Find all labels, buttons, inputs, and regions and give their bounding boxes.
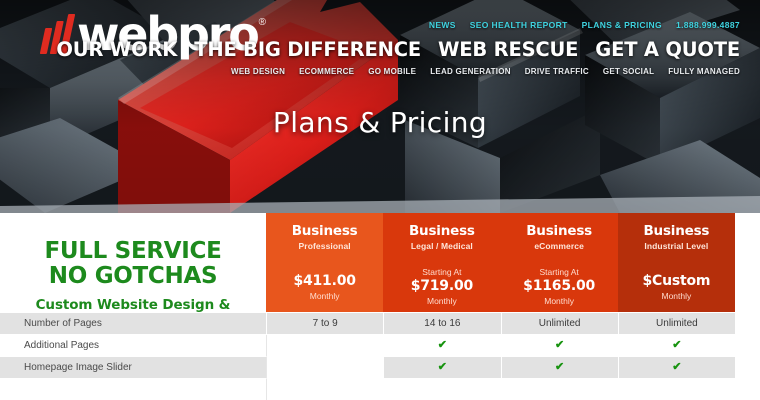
subnav-item-go-mobile[interactable]: GO MOBILE (368, 67, 416, 76)
pricing-section: FULL SERVICE NO GOTCHAS Custom Website D… (0, 213, 760, 400)
subnav-item-web-design[interactable]: WEB DESIGN (231, 67, 285, 76)
feature-cell: ✔ (383, 335, 500, 357)
plan-title: Business (526, 223, 592, 239)
registered-trademark-icon: ® (259, 18, 266, 28)
feature-cell: 14 to 16 (383, 313, 500, 335)
utility-nav-item-seo-health[interactable]: SEO HEALTH REPORT (470, 20, 568, 30)
plan-price-business-industrial-level[interactable]: $Custom Monthly (618, 260, 735, 312)
table-row: Additional Pages ✔ ✔ ✔ (0, 335, 760, 357)
plans-price-row: $411.00 Monthly Starting At $719.00 Mont… (266, 260, 735, 312)
feature-cell: 7 to 9 (266, 313, 383, 335)
plan-subtitle: Legal / Medical (411, 241, 473, 251)
phone-number[interactable]: 1.888.999.4887 (676, 20, 740, 30)
feature-cell-empty (266, 379, 383, 400)
feature-values: 7 to 9 14 to 16 Unlimited Unlimited (266, 313, 760, 335)
table-gutter (735, 335, 760, 357)
feature-cell-empty (266, 357, 383, 379)
plan-title: Business (643, 223, 709, 239)
feature-name: Additional Pages (0, 335, 266, 357)
utility-nav-item-news[interactable]: NEWS (429, 20, 456, 30)
subnav-item-get-social[interactable]: GET SOCIAL (603, 67, 654, 76)
plan-starting-at: Starting At (540, 267, 579, 277)
plan-period: Monthly (427, 296, 457, 306)
plan-period: Monthly (544, 296, 574, 306)
nav-item-get-a-quote[interactable]: GET A QUOTE (595, 38, 740, 61)
feature-cell (383, 379, 500, 400)
hero-banner: webpro ® NEWS SEO HEALTH REPORT PLANS & … (0, 0, 760, 213)
table-row: Homepage Image Slider ✔ ✔ ✔ (0, 357, 760, 379)
feature-cell (501, 379, 618, 400)
feature-cell: ✔ (383, 357, 500, 379)
nav-item-our-work[interactable]: OUR WORK (56, 38, 177, 61)
table-gutter (735, 357, 760, 379)
plans-header-row: Business Professional Business Legal / M… (266, 213, 735, 260)
feature-values: ✔ ✔ ✔ (266, 357, 760, 379)
features-table: Number of Pages 7 to 9 14 to 16 Unlimite… (0, 312, 760, 400)
primary-nav: OUR WORK THE BIG DIFFERENCE WEB RESCUE G… (56, 38, 740, 61)
plan-header-business-industrial-level[interactable]: Business Industrial Level (618, 213, 735, 260)
nav-item-the-big-difference[interactable]: THE BIG DIFFERENCE (194, 38, 421, 61)
plan-subtitle: Industrial Level (644, 241, 708, 251)
promo-line-1: FULL SERVICE (8, 239, 258, 264)
plan-period: Monthly (661, 291, 691, 301)
check-icon: ✔ (555, 340, 564, 351)
page-title: Plans & Pricing (0, 106, 760, 139)
plans-panel: Business Professional Business Legal / M… (266, 213, 735, 312)
subnav-item-ecommerce[interactable]: ECOMMERCE (299, 67, 354, 76)
plan-period: Monthly (310, 291, 340, 301)
feature-cell: ✔ (501, 335, 618, 357)
table-gutter (735, 379, 760, 400)
plan-header-business-professional[interactable]: Business Professional (266, 213, 383, 260)
feature-cell: ✔ (618, 357, 735, 379)
plan-title: Business (292, 223, 358, 239)
table-row: Number of Pages 7 to 9 14 to 16 Unlimite… (0, 313, 760, 335)
utility-nav: NEWS SEO HEALTH REPORT PLANS & PRICING 1… (429, 20, 740, 30)
subnav-item-drive-traffic[interactable]: DRIVE TRAFFIC (525, 67, 589, 76)
plan-price-business-legal-medical[interactable]: Starting At $719.00 Monthly (383, 260, 500, 312)
plan-amount: $1165.00 (523, 278, 595, 294)
feature-cell: ✔ (501, 357, 618, 379)
check-icon: ✔ (672, 362, 681, 373)
feature-name: Number of Pages (0, 313, 266, 335)
utility-nav-item-plans[interactable]: PLANS & PRICING (582, 20, 662, 30)
feature-cell: Unlimited (618, 313, 735, 335)
plan-header-business-legal-medical[interactable]: Business Legal / Medical (383, 213, 500, 260)
feature-cell-empty (266, 335, 383, 357)
promo-line-2: NO GOTCHAS (8, 264, 258, 289)
feature-values (266, 379, 760, 400)
plan-amount: $719.00 (411, 278, 473, 294)
plan-price-business-ecommerce[interactable]: Starting At $1165.00 Monthly (501, 260, 618, 312)
feature-cell (618, 379, 735, 400)
feature-name: Homepage Image Slider (0, 357, 266, 379)
feature-name (0, 379, 266, 400)
check-icon: ✔ (672, 340, 681, 351)
feature-cell: ✔ (618, 335, 735, 357)
plan-price-business-professional[interactable]: $411.00 Monthly (266, 260, 383, 312)
subnav-item-lead-generation[interactable]: LEAD GENERATION (430, 67, 511, 76)
plan-subtitle: Professional (299, 241, 351, 251)
check-icon: ✔ (438, 362, 447, 373)
table-gutter (735, 313, 760, 335)
check-icon: ✔ (555, 362, 564, 373)
nav-item-web-rescue[interactable]: WEB RESCUE (438, 38, 578, 61)
plan-title: Business (409, 223, 475, 239)
feature-cell: Unlimited (501, 313, 618, 335)
plan-amount: $Custom (642, 273, 710, 289)
subnav-item-fully-managed[interactable]: FULLY MANAGED (668, 67, 740, 76)
table-row-partial (0, 379, 760, 400)
plan-amount: $411.00 (293, 273, 355, 289)
plan-header-business-ecommerce[interactable]: Business eCommerce (501, 213, 618, 260)
check-icon: ✔ (438, 340, 447, 351)
feature-values: ✔ ✔ ✔ (266, 335, 760, 357)
plan-starting-at: Starting At (422, 267, 461, 277)
secondary-nav: WEB DESIGN ECOMMERCE GO MOBILE LEAD GENE… (231, 67, 740, 76)
plan-subtitle: eCommerce (534, 241, 584, 251)
